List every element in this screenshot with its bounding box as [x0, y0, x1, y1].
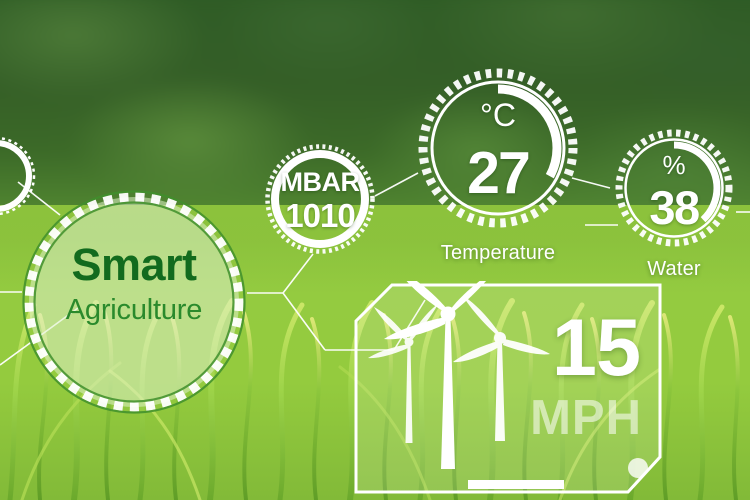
pressure-value: 1010	[264, 199, 376, 232]
water-value: 38	[612, 184, 736, 231]
gauge-temperature[interactable]: °C 27	[414, 64, 582, 232]
water-unit-label: %	[612, 152, 736, 178]
water-caption: Water	[613, 258, 735, 281]
brand-title: Smart	[18, 242, 250, 287]
wind-speed-value: 15	[552, 308, 640, 389]
wind-panel-bottom-bar	[468, 480, 564, 489]
smart-agriculture-badge[interactable]: Smart Agriculture	[18, 186, 250, 418]
temperature-value: 27	[414, 144, 582, 203]
wind-panel-corner-dot	[628, 458, 648, 478]
dashboard-overlay-scene: Smart Agriculture MBAR 1010 °C 27 Temper…	[0, 0, 750, 500]
gauge-pressure[interactable]: MBAR 1010	[264, 143, 376, 255]
temperature-unit-label: °C	[414, 99, 582, 131]
brand-subtitle: Agriculture	[18, 296, 250, 325]
pressure-unit-label: MBAR	[264, 169, 376, 196]
gauge-water[interactable]: % 38	[612, 126, 736, 250]
wind-speed-panel[interactable]: 15 MPH	[352, 281, 664, 496]
wind-speed-unit: MPH	[530, 394, 642, 443]
smart-agriculture-text: Smart Agriculture	[18, 242, 250, 325]
temperature-caption: Temperature	[418, 242, 578, 265]
